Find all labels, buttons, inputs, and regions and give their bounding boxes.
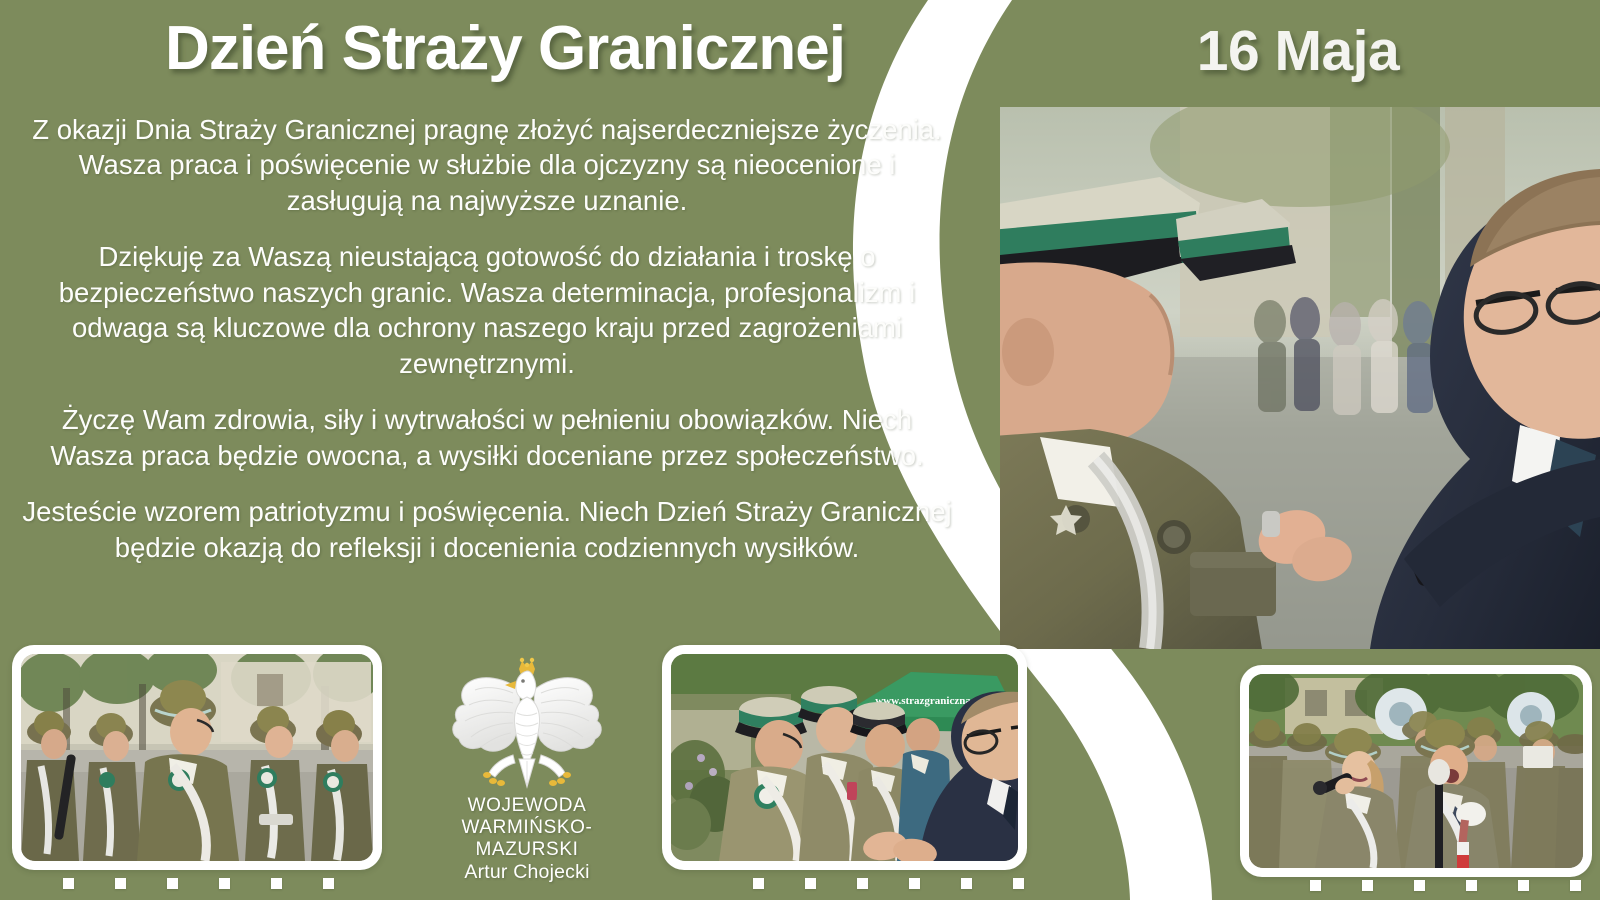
thumb-handshake-officers-inner: www.strazgraniczna.pl: [671, 654, 1018, 861]
decor-dots-middle: [753, 878, 1065, 889]
decor-dots-right: [1310, 880, 1600, 891]
emblem-caption-line-1: WOJEWODA: [418, 795, 636, 817]
thumb-honor-guard-band-inner: [21, 654, 373, 861]
wojewoda-emblem-block: WOJEWODA WARMIŃSKO-MAZURSKI Artur Chojec…: [418, 655, 636, 883]
decor-dots-left: [63, 878, 375, 889]
dot: [753, 878, 764, 889]
paragraph-1: Z okazji Dnia Straży Granicznej pragnę z…: [22, 112, 952, 218]
dot: [219, 878, 230, 889]
emblem-caption-line-2: WARMIŃSKO-MAZURSKI: [418, 817, 636, 861]
hero-photo-medal-pinning: [1000, 107, 1600, 649]
thumb-singers-band-inner: [1249, 674, 1583, 868]
polish-eagle-emblem-icon: [447, 655, 607, 793]
paragraph-4: Jesteście wzorem patriotyzmu i poświęcen…: [22, 494, 952, 565]
page-title: Dzień Straży Granicznej: [60, 16, 950, 81]
dot: [115, 878, 126, 889]
dot: [909, 878, 920, 889]
dot: [857, 878, 868, 889]
poster-canvas: Dzień Straży Granicznej 16 Maja Z okazji…: [0, 0, 1600, 900]
dot: [271, 878, 282, 889]
hero-photo-image: [1000, 107, 1600, 649]
dot: [167, 878, 178, 889]
dot: [63, 878, 74, 889]
dot: [1013, 878, 1024, 889]
greeting-message: Z okazji Dnia Straży Granicznej pragnę z…: [22, 112, 952, 565]
dot: [1518, 880, 1529, 891]
dot: [961, 878, 972, 889]
thumb-handshake-officers: www.strazgraniczna.pl: [662, 645, 1027, 870]
dot: [1570, 880, 1581, 891]
paragraph-2: Dziękuję za Waszą nieustającą gotowość d…: [22, 239, 952, 381]
dot: [1414, 880, 1425, 891]
dot: [805, 878, 816, 889]
emblem-caption-line-3: Artur Chojecki: [418, 861, 636, 883]
event-date: 16 Maja: [1108, 18, 1488, 84]
paragraph-3: Życzę Wam zdrowia, siły i wytrwałości w …: [22, 402, 952, 473]
thumb-singers-band-image: [1249, 674, 1583, 868]
thumb-handshake-officers-image: www.strazgraniczna.pl: [671, 654, 1018, 861]
dot: [1466, 880, 1477, 891]
thumb-honor-guard-band-image: [21, 654, 373, 861]
thumb-singers-band: [1240, 665, 1592, 877]
emblem-caption: WOJEWODA WARMIŃSKO-MAZURSKI Artur Chojec…: [418, 795, 636, 883]
dot: [1362, 880, 1373, 891]
thumb-honor-guard-band: [12, 645, 382, 870]
dot: [1310, 880, 1321, 891]
dot: [323, 878, 334, 889]
